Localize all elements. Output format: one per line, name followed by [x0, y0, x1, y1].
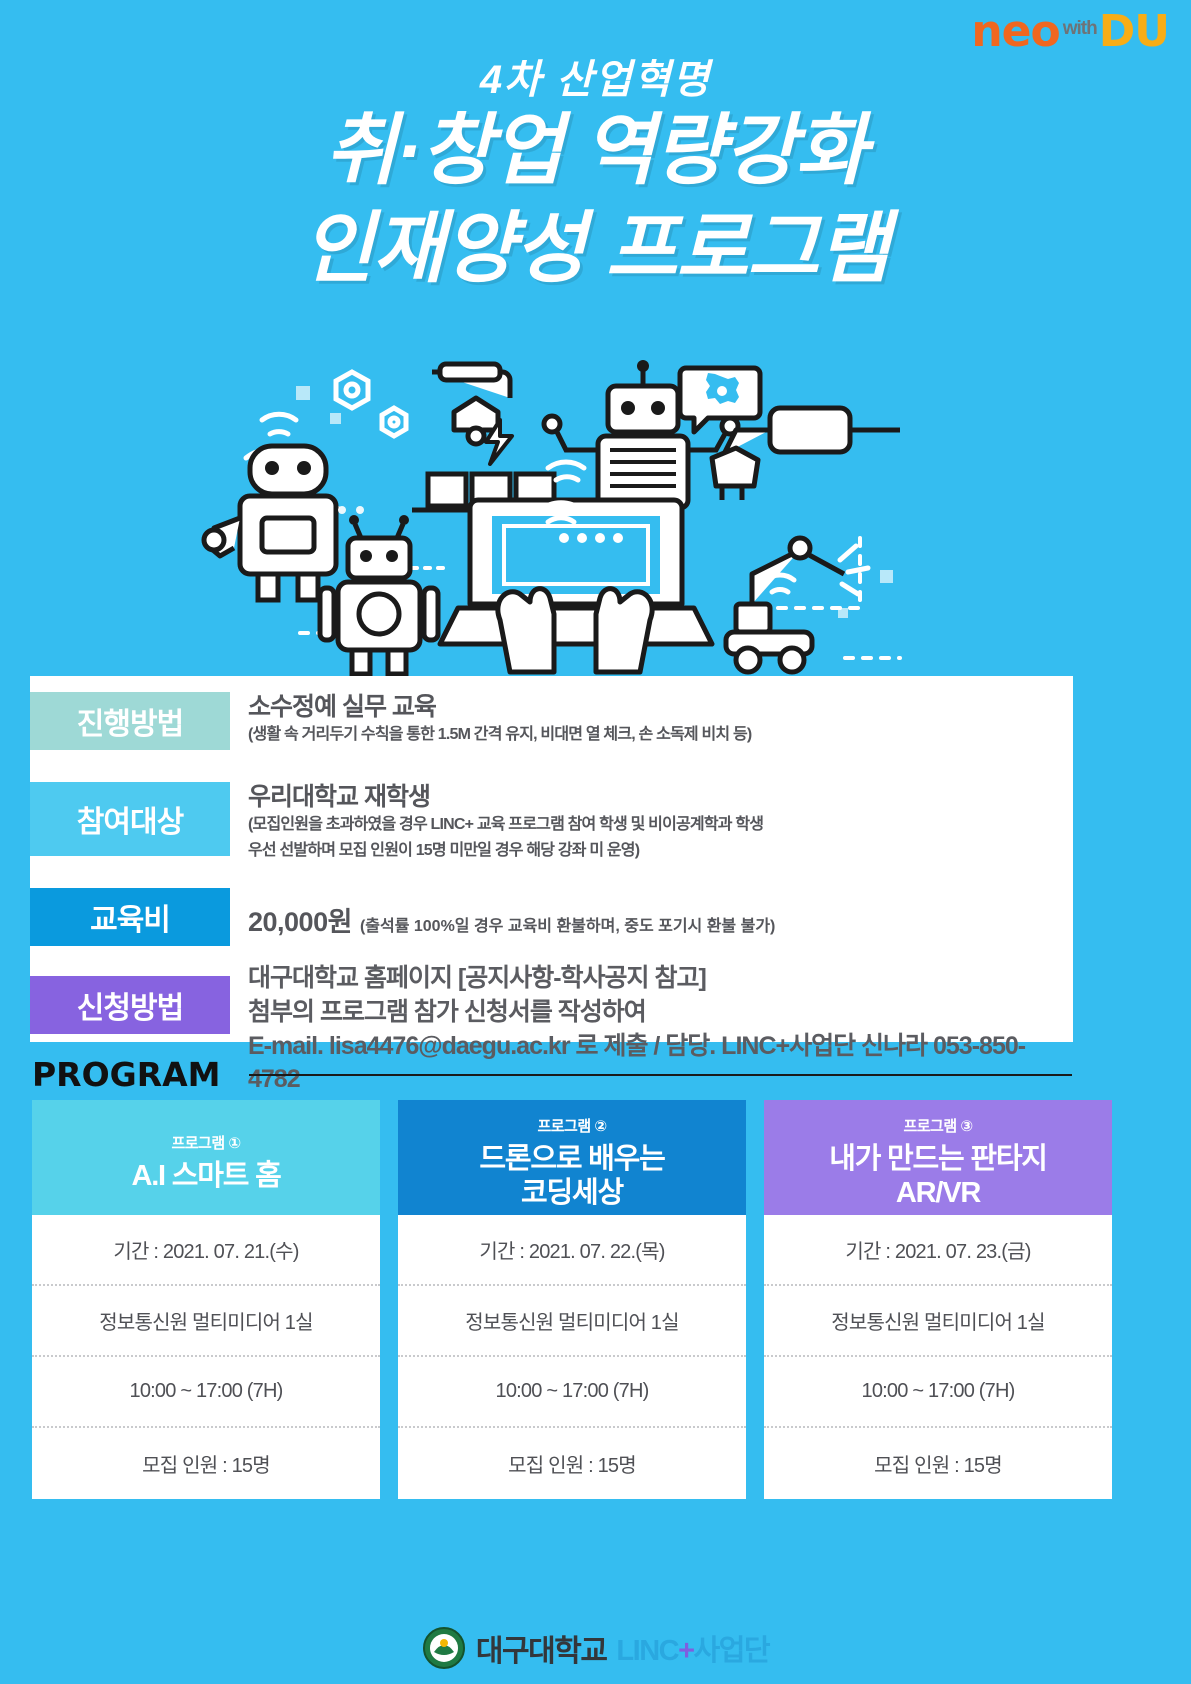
program-divider: [249, 1074, 1072, 1076]
daegu-university-emblem-icon: [422, 1626, 466, 1670]
info-sub-target-2: 우선 선발하며 모집 인원이 15명 미만일 경우 해당 강좌 미 운영): [248, 838, 1073, 864]
program-card-3[interactable]: 프로그램 ③ 내가 만드는 판타지 AR/VR 기간 : 2021. 07. 2…: [764, 1100, 1112, 1499]
program-card-2-title-line2: 코딩세상: [479, 1176, 664, 1210]
program-card-list: 프로그램 ① A.I 스마트 홈 기간 : 2021. 07. 21.(수) 정…: [32, 1100, 1162, 1499]
footer-linc-text: LINC: [616, 1635, 678, 1667]
program-card-1-kicker: 프로그램 ①: [171, 1132, 240, 1153]
program-card-2-title: 드론으로 배우는 코딩세상: [479, 1142, 664, 1210]
program-card-3-period: 기간 : 2021. 07. 23.(금): [764, 1215, 1112, 1286]
program-section-header: PROGRAM: [32, 1055, 1072, 1094]
headline-line-1: 취·창업 역량강화: [0, 102, 1191, 200]
footer-linc-plus: +: [678, 1635, 693, 1667]
program-card-1-header: 프로그램 ① A.I 스마트 홈: [32, 1100, 380, 1215]
footer-linc-org: 사업단: [694, 1635, 770, 1667]
info-fee-note: (출석률 100%일 경우 교육비 환불하며, 중도 포기시 환불 불가): [360, 912, 775, 936]
info-tag-method: 진행방법: [30, 692, 230, 750]
program-card-3-header: 프로그램 ③ 내가 만드는 판타지 AR/VR: [764, 1100, 1112, 1215]
headline-kicker: 4차 산업혁명: [0, 58, 1191, 102]
program-card-2-place: 정보통신원 멀티미디어 1실: [398, 1286, 746, 1357]
program-card-2-kicker: 프로그램 ②: [537, 1115, 606, 1136]
info-sub-method-1: (생활 속 거리두기 수칙을 통한 1.5M 간격 유지, 비대면 열 체크, …: [248, 722, 1073, 748]
info-sub-target-1: (모집인원을 초과하였을 경우 LINC+ 교육 프로그램 참여 학생 및 비이…: [248, 812, 1073, 838]
info-tag-apply: 신청방법: [30, 976, 230, 1034]
program-card-2-capacity: 모집 인원 : 15명: [398, 1428, 746, 1499]
program-card-1-time: 10:00 ~ 17:00 (7H): [32, 1357, 380, 1428]
program-card-3-title-line1: 내가 만드는 판타지: [829, 1142, 1047, 1176]
neo-with-du-logo: neo with DU: [971, 10, 1169, 54]
program-card-2-body: 기간 : 2021. 07. 22.(목) 정보통신원 멀티미디어 1실 10:…: [398, 1215, 746, 1499]
info-body-fee: 20,000원 (출석률 100%일 경우 교육비 환불하며, 중도 포기시 환…: [230, 888, 1073, 946]
program-card-2[interactable]: 프로그램 ② 드론으로 배우는 코딩세상 기간 : 2021. 07. 22.(…: [398, 1100, 746, 1499]
info-row-target: 참여대상 우리대학교 재학생 (모집인원을 초과하였을 경우 LINC+ 교육 …: [30, 782, 1073, 863]
headline-line-2: 인재양성 프로그램: [0, 200, 1191, 298]
program-info-panel: 진행방법 소수정예 실무 교육 (생활 속 거리두기 수칙을 통한 1.5M 간…: [30, 676, 1073, 1042]
info-row-method: 진행방법 소수정예 실무 교육 (생활 속 거리두기 수칙을 통한 1.5M 간…: [30, 692, 1073, 750]
program-card-2-header: 프로그램 ② 드론으로 배우는 코딩세상: [398, 1100, 746, 1215]
program-card-1-title-line1: A.I 스마트 홈: [131, 1159, 280, 1193]
program-card-3-title-line2: AR/VR: [829, 1176, 1047, 1210]
program-card-1-body: 기간 : 2021. 07. 21.(수) 정보통신원 멀티미디어 1실 10:…: [32, 1215, 380, 1499]
apply-line-1: 대구대학교 홈페이지 [공지사항-학사공지 참고]: [248, 962, 1073, 996]
info-body-method: 소수정예 실무 교육 (생활 속 거리두기 수칙을 통한 1.5M 간격 유지,…: [230, 692, 1073, 750]
logo-du-text: DU: [1099, 10, 1169, 54]
info-body-target: 우리대학교 재학생 (모집인원을 초과하였을 경우 LINC+ 교육 프로그램 …: [230, 782, 1073, 863]
logo-neo-text: neo: [971, 10, 1059, 54]
logo-with-text: with: [1063, 19, 1097, 38]
program-card-1-capacity: 모집 인원 : 15명: [32, 1428, 380, 1499]
info-title-method: 소수정예 실무 교육: [248, 692, 1073, 722]
program-heading: PROGRAM: [32, 1055, 221, 1094]
program-card-3-time: 10:00 ~ 17:00 (7H): [764, 1357, 1112, 1428]
program-card-2-title-line1: 드론으로 배우는: [479, 1142, 664, 1176]
info-row-fee: 교육비 20,000원 (출석률 100%일 경우 교육비 환불하며, 중도 포…: [30, 888, 1073, 946]
info-title-target: 우리대학교 재학생: [248, 782, 1073, 812]
program-card-3-capacity: 모집 인원 : 15명: [764, 1428, 1112, 1499]
footer-linc-logo: LINC+사업단: [616, 1627, 769, 1669]
footer-university-name: 대구대학교: [476, 1626, 607, 1670]
info-fee-amount: 20,000원: [248, 900, 352, 939]
program-card-3-title: 내가 만드는 판타지 AR/VR: [829, 1142, 1047, 1210]
info-tag-fee: 교육비: [30, 888, 230, 946]
program-card-3-place: 정보통신원 멀티미디어 1실: [764, 1286, 1112, 1357]
poster-headline: 4차 산업혁명 취·창업 역량강화 인재양성 프로그램: [0, 58, 1191, 297]
program-card-1-place: 정보통신원 멀티미디어 1실: [32, 1286, 380, 1357]
program-card-2-period: 기간 : 2021. 07. 22.(목): [398, 1215, 746, 1286]
program-card-2-time: 10:00 ~ 17:00 (7H): [398, 1357, 746, 1428]
program-card-3-kicker: 프로그램 ③: [903, 1115, 972, 1136]
program-card-1-title: A.I 스마트 홈: [131, 1159, 280, 1193]
program-card-1[interactable]: 프로그램 ① A.I 스마트 홈 기간 : 2021. 07. 21.(수) 정…: [32, 1100, 380, 1499]
program-card-3-body: 기간 : 2021. 07. 23.(금) 정보통신원 멀티미디어 1실 10:…: [764, 1215, 1112, 1499]
robotics-illustration: [0, 358, 1191, 688]
info-tag-target: 참여대상: [30, 782, 230, 856]
program-card-1-period: 기간 : 2021. 07. 21.(수): [32, 1215, 380, 1286]
apply-line-2: 첨부의 프로그램 참가 신청서를 작성하여: [248, 996, 1073, 1030]
footer-logos: 대구대학교 LINC+사업단: [0, 1626, 1191, 1670]
